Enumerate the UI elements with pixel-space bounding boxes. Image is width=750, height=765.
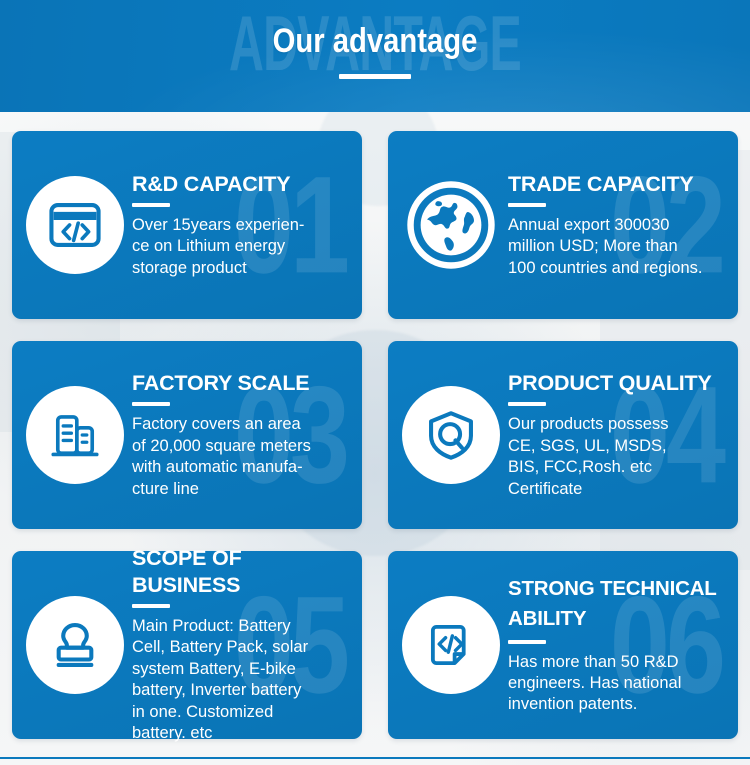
- card-body: TRADE CAPACITY Annual export 300030 mill…: [508, 171, 728, 280]
- card-body: SCOPE OF BUSINESS Main Product: Battery …: [132, 545, 352, 744]
- card-title-underline: [132, 604, 170, 608]
- card-title: FACTORY SCALE: [132, 370, 350, 396]
- advantage-card-grid: 01 R&D CAPACITY Over 15years experien- c…: [0, 112, 750, 739]
- card-title: PRODUCT QUALITY: [508, 370, 726, 396]
- code-window-icon: [26, 176, 124, 274]
- card-title: TRADE CAPACITY: [508, 171, 726, 197]
- card-title-underline: [508, 402, 546, 406]
- card-description: Has more than 50 R&D engineers. Has nati…: [508, 652, 726, 716]
- advantage-card-strong-technical-ability[interactable]: 06 STRONG TECHNICAL ABILITY Has more tha…: [388, 551, 738, 739]
- advantage-card-scope-of-business[interactable]: 05 SCOPE OF BUSINESS Main Product: Batte…: [12, 551, 362, 739]
- stamp-icon: [26, 596, 124, 694]
- card-title: STRONG TECHNICAL ABILITY: [508, 574, 726, 633]
- advantage-card-trade-capacity[interactable]: 02 TRADE CAPACITY Annual export 300030 m…: [388, 131, 738, 319]
- card-title: R&D CAPACITY: [132, 171, 350, 197]
- advantage-card-rd-capacity[interactable]: 01 R&D CAPACITY Over 15years experien- c…: [12, 131, 362, 319]
- card-description: Annual export 300030 million USD; More t…: [508, 215, 726, 279]
- shield-quality-icon: [402, 386, 500, 484]
- buildings-icon: [26, 386, 124, 484]
- card-description: Over 15years experien- ce on Lithium ene…: [132, 215, 350, 279]
- advantage-card-product-quality[interactable]: 04 PRODUCT QUALITY Our products possess …: [388, 341, 738, 529]
- card-title: SCOPE OF BUSINESS: [132, 545, 350, 597]
- card-title-underline: [508, 640, 546, 644]
- card-title-underline: [132, 402, 170, 406]
- globe-icon: [402, 176, 500, 274]
- card-body: FACTORY SCALE Factory covers an area of …: [132, 370, 352, 500]
- footer-divider: [0, 757, 750, 759]
- card-title-underline: [508, 203, 546, 207]
- advantage-card-factory-scale[interactable]: 03 FACTORY SCALE Factory covers an area …: [12, 341, 362, 529]
- page-header: ADVANTAGE Our advantage: [0, 0, 750, 112]
- card-body: STRONG TECHNICAL ABILITY Has more than 5…: [508, 574, 728, 716]
- card-description: Main Product: Battery Cell, Battery Pack…: [132, 616, 350, 745]
- card-title-underline: [132, 203, 170, 207]
- card-body: R&D CAPACITY Over 15years experien- ce o…: [132, 171, 352, 280]
- card-description: Factory covers an area of 20,000 square …: [132, 414, 350, 500]
- card-body: PRODUCT QUALITY Our products possess CE,…: [508, 370, 728, 500]
- page-title: Our advantage: [53, 20, 698, 63]
- code-document-icon: [402, 596, 500, 694]
- card-description: Our products possess CE, SGS, UL, MSDS, …: [508, 414, 726, 500]
- header-underline: [339, 74, 411, 79]
